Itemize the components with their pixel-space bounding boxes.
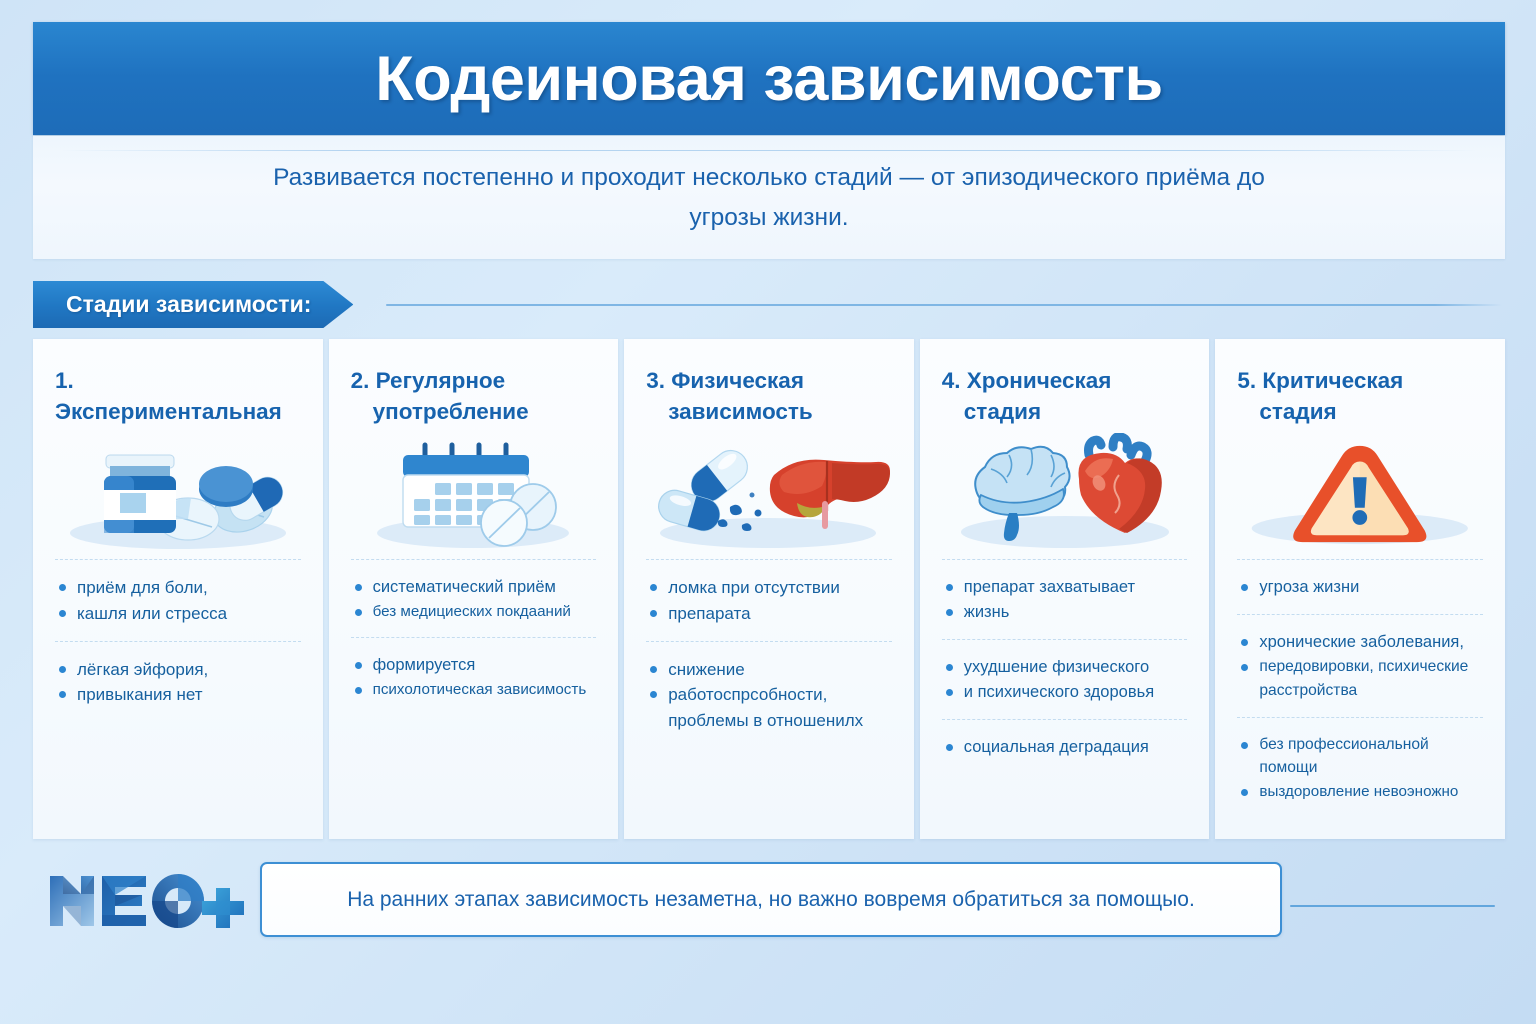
bullet-subtext: препарата	[646, 601, 892, 627]
bullet-subtext: без медициеских покдааний	[351, 600, 597, 623]
stage-card-1-bullets: приём для боли, кашля или стресса лёгкая…	[55, 559, 301, 714]
warning-triangle-icon	[1237, 433, 1483, 551]
bullet-text: лёгкая эйфория,	[55, 657, 301, 683]
subtitle-text: Развивается постепенно и проходит нескол…	[249, 158, 1289, 237]
stage-card-4-title: 4. Хроническая стадия	[942, 365, 1188, 431]
bullet-text: ломка при отсутствии	[646, 575, 892, 601]
stage-card-3-title: 3. Физическая зависимость	[646, 365, 892, 431]
list-item: ломка при отсутствии препарата	[646, 559, 892, 641]
stage-card-4-bullets: препарат захватывает жизнь ухудшение физ…	[942, 559, 1188, 766]
list-item: систематический приём без медициеских по…	[351, 559, 597, 637]
list-item: снижение работоспрсобности, проблемы в о…	[646, 641, 892, 740]
stage-card-5[interactable]: 5. Критическая стадия угроза жизни	[1215, 339, 1505, 839]
bullet-text: без профессиональной помощи	[1237, 733, 1483, 780]
stage-card-3-bullets: ломка при отсутствии препарата снижение …	[646, 559, 892, 740]
stages-card-row: 1. Экспериментальная	[33, 339, 1505, 839]
bullet-text: хронические заболевания,	[1237, 630, 1483, 655]
stage-card-2[interactable]: 2. Регулярное употребление	[329, 339, 619, 839]
page-title: Кодеиновая зависимость	[375, 43, 1162, 115]
calendar-pills-icon	[351, 433, 597, 551]
bullet-subtext: работоспрсобности, проблемы в отношенилх	[646, 682, 892, 734]
infographic-poster: Кодеиновая зависимость Развивается посте…	[0, 0, 1536, 1024]
stage-card-3[interactable]: 3. Физическая зависимость	[624, 339, 914, 839]
section-banner: Стадии зависимости:	[33, 281, 353, 328]
stage-card-2-title-line2: употребление	[351, 396, 597, 427]
footer-note-text: На ранних этапах зависимость незаметна, …	[347, 888, 1195, 912]
subtitle-band: Развивается постепенно и проходит нескол…	[33, 136, 1505, 259]
footer-divider-rule	[1290, 905, 1495, 907]
stage-card-2-bullets: систематический приём без медициеских по…	[351, 559, 597, 707]
stage-card-4-title-line2: стадия	[942, 396, 1188, 427]
bullet-subtext: кашля или стресса	[55, 601, 301, 627]
brand-logo[interactable]	[46, 866, 246, 936]
stage-card-4[interactable]: 4. Хроническая стадия	[920, 339, 1210, 839]
list-item: препарат захватывает жизнь	[942, 559, 1188, 639]
list-item: социальная деградация	[942, 719, 1188, 766]
stage-card-5-bullets: угроза жизни хронические заболевания, пе…	[1237, 559, 1483, 809]
list-item: приём для боли, кашля или стресса	[55, 559, 301, 641]
bullet-subtext: выздоровление невоэножно	[1237, 780, 1483, 803]
list-item: без профессиональной помощи выздоровлени…	[1237, 717, 1483, 809]
bullet-subtext: жизнь	[942, 600, 1188, 625]
stage-card-4-title-line1: 4. Хроническая	[942, 368, 1112, 393]
capsule-liver-icon	[646, 433, 892, 551]
stage-card-5-title: 5. Критическая стадия	[1237, 365, 1483, 431]
bullet-text: формируется	[351, 653, 597, 678]
stage-card-2-title-line1: 2. Регулярное	[351, 368, 506, 393]
stage-card-5-title-line2: стадия	[1237, 396, 1483, 427]
bullet-subtext: психолотическая зависимость	[351, 678, 597, 701]
pill-bottle-icon	[55, 433, 301, 551]
bullet-text: ухудшение физического	[942, 655, 1188, 680]
stage-card-1-title: 1. Экспериментальная	[55, 365, 301, 431]
footer-note-box: На ранних этапах зависимость незаметна, …	[260, 862, 1282, 937]
stage-card-3-title-line1: 3. Физическая	[646, 368, 804, 393]
list-item: хронические заболевания, передовировки, …	[1237, 614, 1483, 716]
bullet-text: снижение	[646, 657, 892, 683]
stage-card-5-title-line1: 5. Критическая	[1237, 368, 1403, 393]
bullet-text: приём для боли,	[55, 575, 301, 601]
bullet-text: угроза жизни	[1237, 575, 1483, 600]
brain-heart-icon	[942, 433, 1188, 551]
stage-card-3-title-line2: зависимость	[646, 396, 892, 427]
bullet-subtext: и психического здоровья	[942, 680, 1188, 705]
list-item: лёгкая эйфория, привыкания нет	[55, 641, 301, 715]
bullet-text: социальная деградация	[942, 735, 1188, 760]
list-item: формируется психолотическая зависимость	[351, 637, 597, 707]
stage-card-1-title-line1: 1. Экспериментальная	[55, 368, 282, 424]
section-divider-rule	[386, 304, 1502, 306]
list-item: угроза жизни	[1237, 559, 1483, 614]
bullet-text: систематический приём	[351, 575, 597, 600]
bullet-text: препарат захватывает	[942, 575, 1188, 600]
stage-card-1[interactable]: 1. Экспериментальная	[33, 339, 323, 839]
bullet-subtext: передовировки, психические расстройства	[1237, 655, 1483, 702]
header-bar: Кодеиновая зависимость	[33, 22, 1505, 135]
section-banner-label: Стадии зависимости:	[66, 291, 311, 318]
list-item: ухудшение физического и психического здо…	[942, 639, 1188, 719]
bullet-subtext: привыкания нет	[55, 682, 301, 708]
stage-card-2-title: 2. Регулярное употребление	[351, 365, 597, 431]
